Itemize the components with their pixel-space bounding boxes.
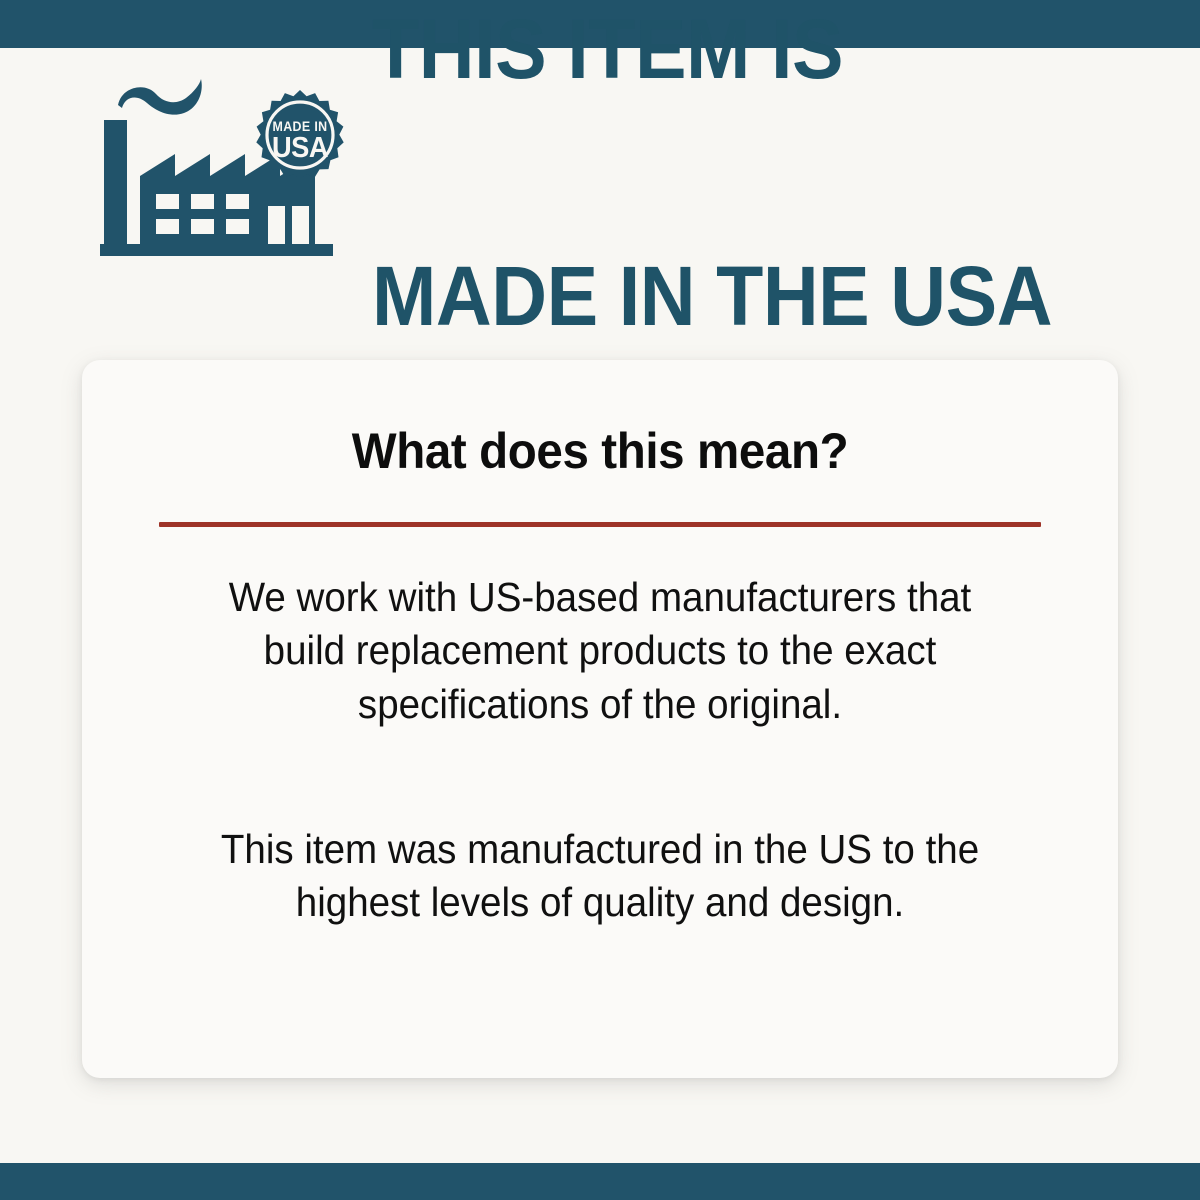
bottom-accent-bar	[0, 1163, 1200, 1200]
page-title-line-2: MADE IN THE USA	[372, 255, 1052, 337]
svg-text:USA: USA	[272, 131, 328, 163]
card-paragraph-2: This item was manufactured in the US to …	[186, 731, 1013, 930]
made-in-usa-logo: MADE IN USA	[100, 78, 350, 268]
header-banner: MADE IN USA THIS ITEM IS MADE IN THE USA	[0, 48, 1200, 298]
card-heading: What does this mean?	[108, 360, 1092, 480]
info-card: What does this mean? We work with US-bas…	[82, 360, 1118, 1078]
chimney-shape	[104, 120, 127, 244]
smoke-plume-icon	[118, 79, 202, 115]
page-title-line-1: THIS ITEM IS	[372, 8, 1052, 90]
card-paragraph-1: We work with US-based manufacturers that…	[186, 527, 1013, 731]
